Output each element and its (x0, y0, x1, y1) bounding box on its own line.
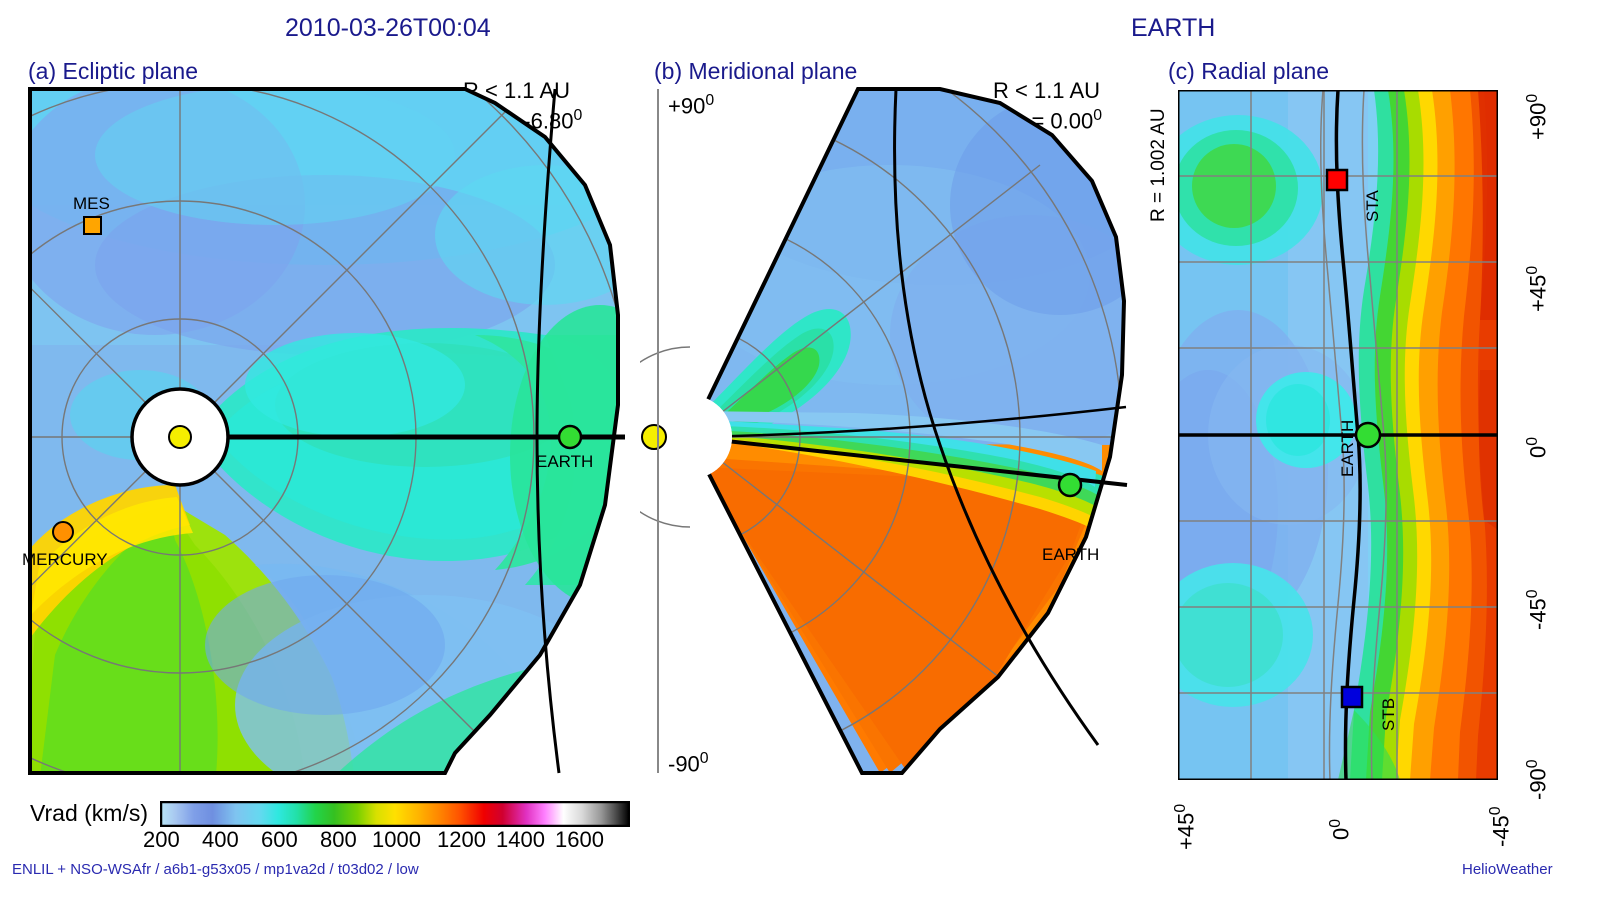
marker-earth-b[interactable] (1059, 474, 1081, 496)
panel-c-xtick-2-degree: 0 (1487, 806, 1504, 815)
label-earth-b: EARTH (1042, 545, 1099, 565)
panel-c-xtick-1: 00 (1327, 819, 1354, 840)
marker-earth-c[interactable] (1356, 423, 1380, 447)
panel-a-title: (a) Ecliptic plane (28, 58, 198, 85)
panel-c-ytick-3: -450 (1524, 589, 1551, 630)
panel-c-ytick-4-value: -90 (1525, 768, 1550, 800)
panel-c-xtick-0-value: +45 (1173, 813, 1198, 850)
colorbar-tick-5: 1200 (437, 827, 486, 853)
colorbar-tick-0: 200 (143, 827, 180, 853)
panel-c-ytick-1-value: +45 (1525, 275, 1550, 312)
footer-model-string: ENLIL + NSO-WSAfr / a6b1-g53x05 / mp1va2… (12, 861, 419, 878)
panel-c-xtick-2-value: -45 (1488, 815, 1513, 847)
marker-sta[interactable] (1327, 170, 1347, 190)
label-stb: STB (1379, 698, 1399, 731)
panel-c-xtick-0: +450 (1172, 804, 1199, 850)
colorbar-label: Vrad (km/s) (30, 800, 148, 827)
panel-c-ytick-0: +900 (1524, 94, 1551, 140)
panel-c-ytick-0-degree: 0 (1524, 94, 1541, 103)
colorbar-tick-2: 600 (261, 827, 298, 853)
label-sta: STA (1363, 190, 1383, 222)
label-mes: MES (73, 194, 110, 214)
marker-mercury[interactable] (53, 522, 73, 542)
footer-credit: HelioWeather (1462, 861, 1553, 878)
sun-marker (169, 426, 191, 448)
panel-c-ytick-2-value: 0 (1525, 446, 1550, 458)
panel-c-xtick-2: -450 (1487, 806, 1514, 847)
colorbar-tick-3: 800 (320, 827, 357, 853)
panel-c-xtick-1-value: 0 (1328, 828, 1353, 840)
colorbar[interactable] (160, 801, 630, 827)
panel-c-title: (c) Radial plane (1168, 58, 1329, 85)
panel-a-plot[interactable] (25, 85, 625, 785)
colorbar-bar (161, 802, 629, 826)
panel-c-ytick-2-degree: 0 (1524, 437, 1541, 446)
label-earth-a: EARTH (536, 452, 593, 472)
panel-c-ytick-0-value: +90 (1525, 103, 1550, 140)
panel-b-title: (b) Meridional plane (654, 58, 857, 85)
panel-c-xtick-0-degree: 0 (1172, 804, 1189, 813)
panel-c-ytick-3-value: -45 (1525, 598, 1550, 630)
marker-stb[interactable] (1342, 687, 1362, 707)
sun-marker-b (642, 425, 666, 449)
colorbar-tick-4: 1000 (372, 827, 421, 853)
panel-c-ytick-1-degree: 0 (1524, 266, 1541, 275)
panel-c-ytick-3-degree: 0 (1524, 589, 1541, 598)
colorbar-tick-7: 1600 (555, 827, 604, 853)
label-earth-c: EARTH (1338, 420, 1358, 477)
panel-c-ytick-1: +450 (1524, 266, 1551, 312)
panel-b-plot[interactable] (640, 85, 1140, 785)
panel-c-ytick-4-degree: 0 (1524, 759, 1541, 768)
panel-c-ytick-2: 00 (1524, 437, 1551, 458)
panel-c-ytick-4: -900 (1524, 759, 1551, 800)
marker-mes[interactable] (84, 217, 101, 234)
target-title: EARTH (1131, 14, 1215, 43)
colorbar-tick-1: 400 (202, 827, 239, 853)
marker-earth[interactable] (559, 426, 581, 448)
panel-c-xtick-1-degree: 0 (1327, 819, 1344, 828)
colorbar-tick-6: 1400 (496, 827, 545, 853)
label-mercury: MERCURY (22, 550, 108, 570)
timestamp-title: 2010-03-26T00:04 (285, 14, 491, 43)
panel-c-radius-label: R = 1.002 AU (1148, 108, 1170, 222)
